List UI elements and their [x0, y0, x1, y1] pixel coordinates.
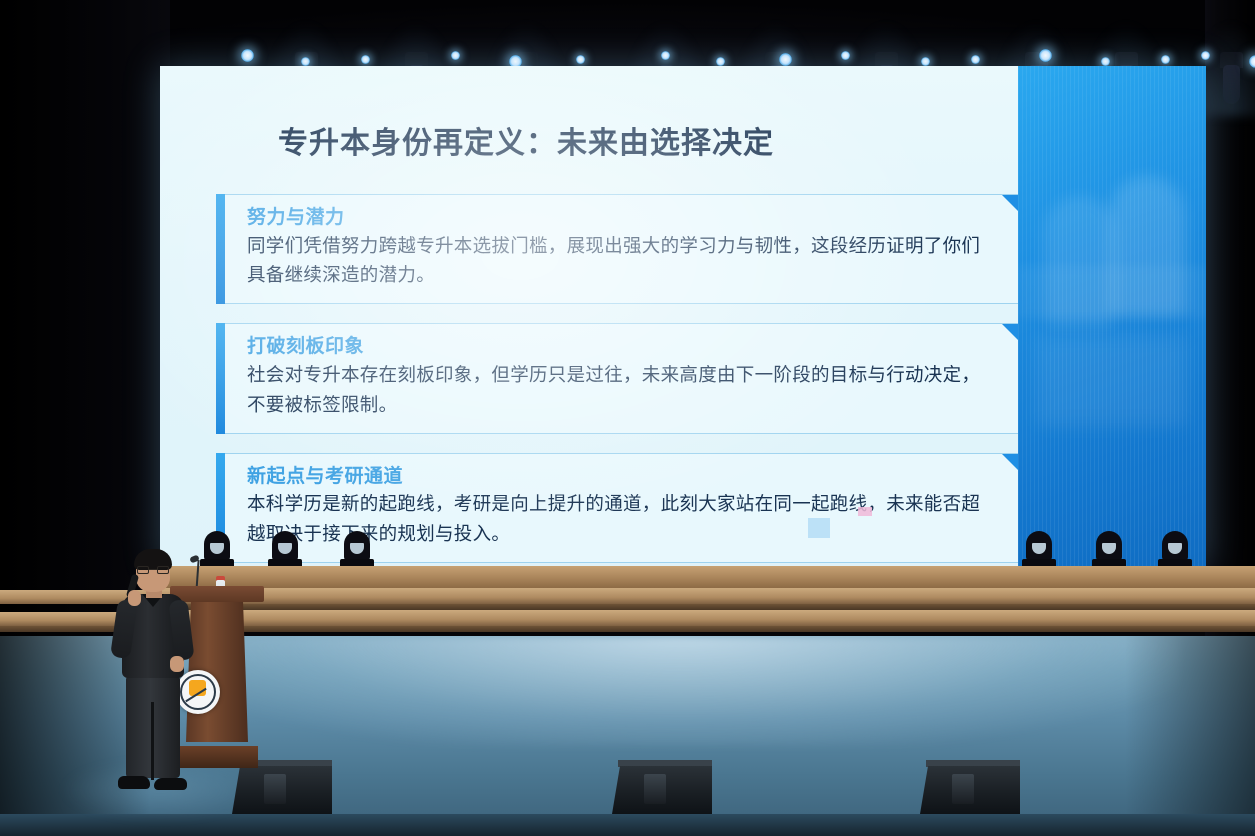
slide-card: 打破刻板印象 社会对专升本存在刻板印象，但学历只是过往，未来高度由下一阶段的目标… — [216, 323, 1024, 433]
monitor-top — [926, 760, 1020, 767]
stage-step — [160, 610, 1255, 626]
auditorium-stage-photo: 专升本身份再定义：未来由选择决定 努力与潜力 同学们凭借努力跨越专升本选拔门槛，… — [0, 0, 1255, 836]
eyeglasses-icon — [137, 566, 169, 574]
truss-led-point — [841, 51, 850, 60]
pink-artifact — [858, 507, 872, 516]
monitor-top — [618, 760, 712, 767]
slide-title: 专升本身份再定义：未来由选择决定 — [278, 118, 978, 162]
card-accent-bar — [216, 194, 225, 304]
floor-reflection — [180, 636, 1180, 746]
slide-card-list: 努力与潜力 同学们凭借努力跨越专升本选拔门槛，展现出强大的学习力与韧性，这段经历… — [216, 194, 1024, 566]
led-presentation-screen: 专升本身份再定义：未来由选择决定 努力与潜力 同学们凭借努力跨越专升本选拔门槛，… — [160, 66, 1206, 566]
card-heading: 打破刻板印象 — [247, 332, 997, 361]
stage-step-shadow — [160, 626, 1255, 632]
presenter-hand — [128, 590, 141, 606]
presenter-shoe — [118, 776, 150, 789]
card-heading: 新起点与考研通道 — [247, 462, 997, 491]
truss-led-point — [1101, 57, 1110, 66]
truss-led-point — [451, 51, 460, 60]
card-heading: 努力与潜力 — [247, 203, 997, 232]
truss-led-point — [576, 55, 585, 64]
floor-moving-head-light — [1022, 524, 1056, 568]
monitor-grille — [952, 774, 974, 804]
card-text: 社会对专升本存在刻板印象，但学历只是过往，未来高度由下一阶段的目标与行动决定，不… — [247, 361, 997, 421]
truss-led-point — [1039, 49, 1052, 62]
blue-square-artifact — [808, 518, 830, 538]
presenter-hand — [170, 656, 184, 672]
wood-platform — [160, 566, 1255, 588]
left-dark-backdrop — [0, 0, 170, 640]
presenter-leg-gap — [151, 702, 154, 780]
truss-led-point — [921, 57, 930, 66]
truss-led-point — [301, 57, 310, 66]
floor-monitor-speaker — [612, 760, 712, 814]
presentation-slide: 专升本身份再定义：未来由选择决定 努力与潜力 同学们凭借努力跨越专升本选拔门槛，… — [160, 66, 1018, 566]
floor-moving-head-light — [1092, 524, 1126, 568]
slide-surface: 专升本身份再定义：未来由选择决定 努力与潜力 同学们凭借努力跨越专升本选拔门槛，… — [160, 66, 1018, 566]
floor-moving-head-light — [268, 524, 302, 568]
panel-scanlines — [1018, 66, 1206, 566]
floor-monitor-speaker — [920, 760, 1020, 814]
truss-led-point — [779, 53, 792, 66]
truss-led-point — [716, 57, 725, 66]
floor-shadow-right — [1125, 636, 1255, 836]
truss-led-point — [971, 55, 980, 64]
truss-led-point — [1249, 55, 1255, 68]
truss-led-point — [661, 51, 670, 60]
truss-led-point — [1201, 51, 1210, 60]
stage-step — [160, 588, 1255, 604]
floor-moving-head-light — [200, 524, 234, 568]
monitor-grille — [644, 774, 666, 804]
card-body: 打破刻板印象 社会对专升本存在刻板印象，但学历只是过往，未来高度由下一阶段的目标… — [225, 323, 1024, 433]
monitor-grille — [264, 774, 286, 804]
truss-led-point — [361, 55, 370, 64]
floor-moving-head-light — [1158, 524, 1192, 568]
slide-card: 努力与潜力 同学们凭借努力跨越专升本选拔门槛，展现出强大的学习力与韧性，这段经历… — [216, 194, 1024, 304]
floor-moving-head-light — [340, 524, 374, 568]
truss-led-point — [1161, 55, 1170, 64]
slide-card: 新起点与考研通道 本科学历是新的起跑线，考研是向上提升的通道，此刻大家站在同一起… — [216, 453, 1024, 563]
blue-led-side-panel — [1018, 66, 1206, 566]
truss-led-point — [241, 49, 254, 62]
card-text: 同学们凭借努力跨越专升本选拔门槛，展现出强大的学习力与韧性，这段经历证明了你们具… — [247, 232, 997, 292]
floor-monitor-speaker — [232, 760, 332, 814]
presenter-shoe — [154, 778, 187, 790]
card-accent-bar — [216, 323, 225, 433]
presenter-with-microphone — [104, 552, 200, 804]
card-body: 努力与潜力 同学们凭借努力跨越专升本选拔门槛，展现出强大的学习力与韧性，这段经历… — [225, 194, 1024, 304]
